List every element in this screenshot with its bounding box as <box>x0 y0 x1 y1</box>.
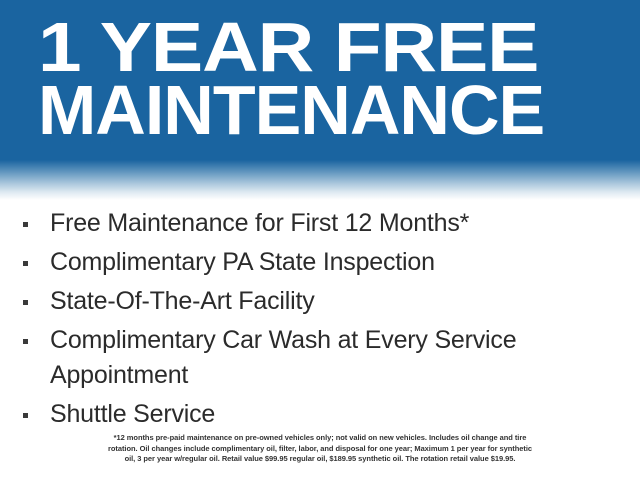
list-item: Complimentary PA State Inspection <box>0 245 640 280</box>
square-bullet-icon <box>23 261 28 266</box>
list-item: Shuttle Service <box>0 397 640 432</box>
maintenance-offer-ad: 1 YEAR FREE MAINTENANCE Free Maintenance… <box>0 0 640 480</box>
feature-text: Complimentary PA State Inspection <box>50 248 435 276</box>
header-banner: 1 YEAR FREE MAINTENANCE <box>0 0 640 200</box>
feature-text: Complimentary Car Wash at Every Service … <box>50 326 516 389</box>
headline-line-2: MAINTENANCE <box>38 77 626 144</box>
list-item: Complimentary Car Wash at Every Service … <box>0 323 640 393</box>
square-bullet-icon <box>23 300 28 305</box>
feature-list: Free Maintenance for First 12 Months* Co… <box>0 206 640 436</box>
banner-gradient-fade <box>0 160 640 200</box>
feature-text: Free Maintenance for First 12 Months* <box>50 209 469 237</box>
feature-text: Shuttle Service <box>50 400 215 428</box>
square-bullet-icon <box>23 222 28 227</box>
headline: 1 YEAR FREE MAINTENANCE <box>38 14 626 144</box>
feature-text: State-Of-The-Art Facility <box>50 287 315 315</box>
square-bullet-icon <box>23 413 28 418</box>
list-item: Free Maintenance for First 12 Months* <box>0 206 640 241</box>
disclaimer-line-1: *12 months pre-paid maintenance on pre-o… <box>40 433 600 444</box>
list-item: State-Of-The-Art Facility <box>0 284 640 319</box>
disclaimer-line-3: oil, 3 per year w/regular oil. Retail va… <box>40 454 600 465</box>
disclaimer-fine-print: *12 months pre-paid maintenance on pre-o… <box>40 433 600 465</box>
square-bullet-icon <box>23 339 28 344</box>
disclaimer-line-2: rotation. Oil changes include compliment… <box>40 444 600 455</box>
